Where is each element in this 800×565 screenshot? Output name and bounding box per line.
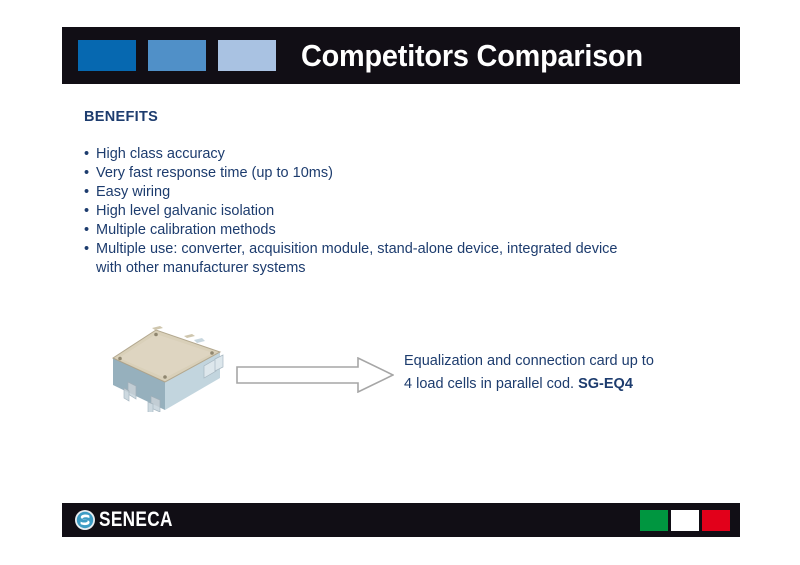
benefits-bullet-list: •High class accuracy •Very fast response… xyxy=(84,145,704,278)
italian-flag-icon xyxy=(640,510,730,531)
bullet-marker: • xyxy=(84,202,96,221)
seneca-logo: SENECA xyxy=(74,508,189,532)
section-heading-benefits: BENEFITS xyxy=(84,109,158,125)
swatch-medium-blue xyxy=(148,40,206,71)
caption-line-2-prefix: 4 load cells in parallel cod. xyxy=(404,376,578,392)
caption-line-2: 4 load cells in parallel cod. SG-EQ4 xyxy=(404,373,654,396)
bullet-marker: • xyxy=(84,240,96,259)
list-item-label: Multiple use: converter, acquisition mod… xyxy=(96,241,618,257)
seneca-circle-s-icon xyxy=(74,509,96,531)
list-item-label: High class accuracy xyxy=(96,146,225,162)
list-item-label: Multiple calibration methods xyxy=(96,222,276,238)
slide-footer-band: SENECA xyxy=(62,503,740,537)
slide-canvas: Competitors Comparison BENEFITS •High cl… xyxy=(0,0,800,565)
bullet-marker: • xyxy=(84,183,96,202)
slide-header-band: Competitors Comparison xyxy=(62,27,740,84)
bullet-marker: • xyxy=(84,145,96,164)
list-item: •High level galvanic isolation xyxy=(84,202,704,221)
right-block-arrow xyxy=(236,357,394,393)
page-title: Competitors Comparison xyxy=(301,38,643,74)
flag-green xyxy=(640,510,668,531)
list-item: •Multiple use: converter, acquisition mo… xyxy=(84,240,704,259)
header-swatch-group xyxy=(78,40,276,71)
bullet-marker: • xyxy=(84,221,96,240)
product-code: SG-EQ4 xyxy=(578,376,633,392)
flag-white xyxy=(671,510,699,531)
caption-line-1: Equalization and connection card up to xyxy=(404,350,654,373)
swatch-dark-blue xyxy=(78,40,136,71)
list-item: •High class accuracy xyxy=(84,145,704,164)
list-item: •Very fast response time (up to 10ms) xyxy=(84,164,704,183)
bullet-marker: • xyxy=(84,164,96,183)
list-item-continuation: with other manufacturer systems xyxy=(84,259,704,278)
swatch-light-blue xyxy=(218,40,276,71)
seneca-wordmark: SENECA xyxy=(99,508,173,532)
flag-red xyxy=(702,510,730,531)
junction-box-photo xyxy=(108,322,230,412)
list-item: •Easy wiring xyxy=(84,183,704,202)
list-item-label: Easy wiring xyxy=(96,184,170,200)
product-caption: Equalization and connection card up to 4… xyxy=(404,350,654,396)
list-item-label: Very fast response time (up to 10ms) xyxy=(96,165,333,181)
list-item: •Multiple calibration methods xyxy=(84,221,704,240)
list-item-label: High level galvanic isolation xyxy=(96,203,274,219)
